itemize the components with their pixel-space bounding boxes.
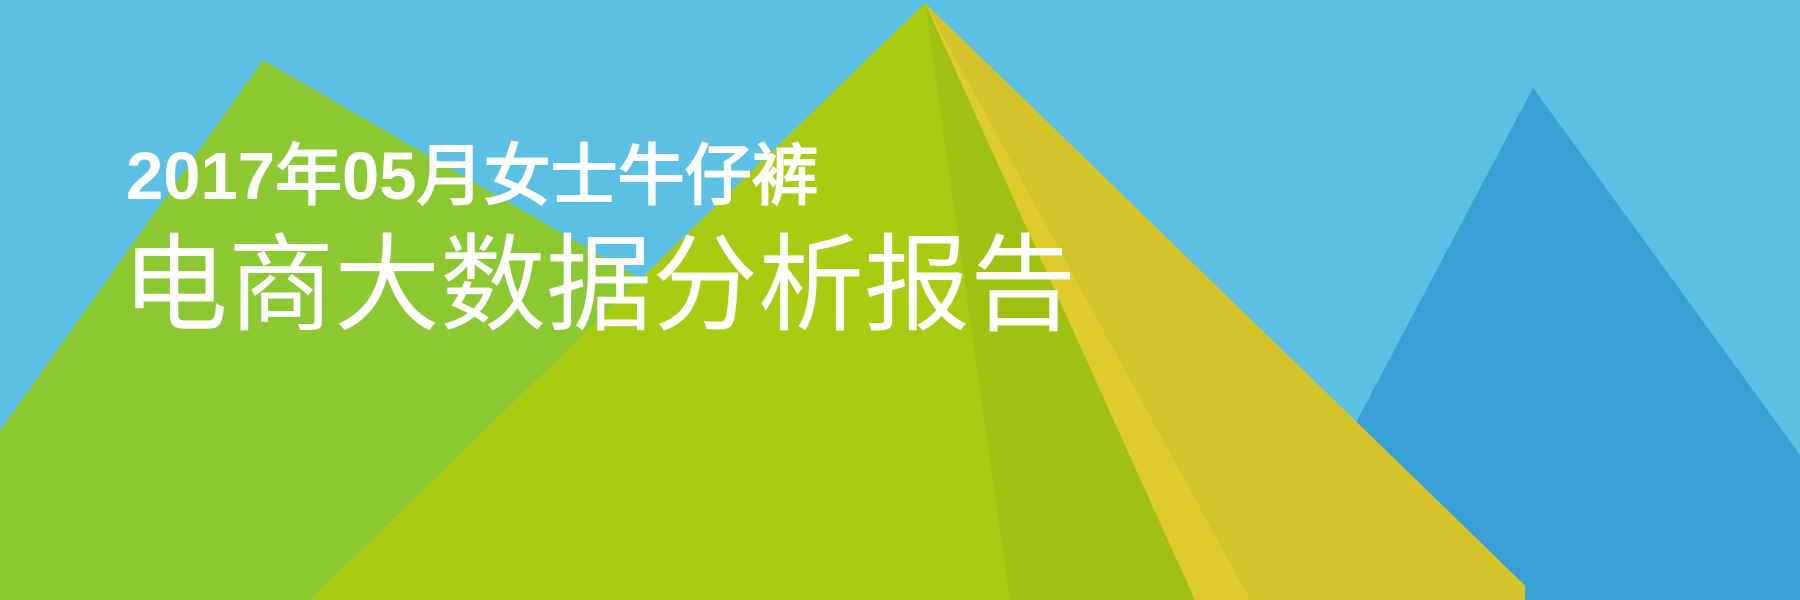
- background-geometric-art: [0, 0, 1800, 600]
- report-cover-banner: 2017年05月女士牛仔裤 电商大数据分析报告: [0, 0, 1800, 600]
